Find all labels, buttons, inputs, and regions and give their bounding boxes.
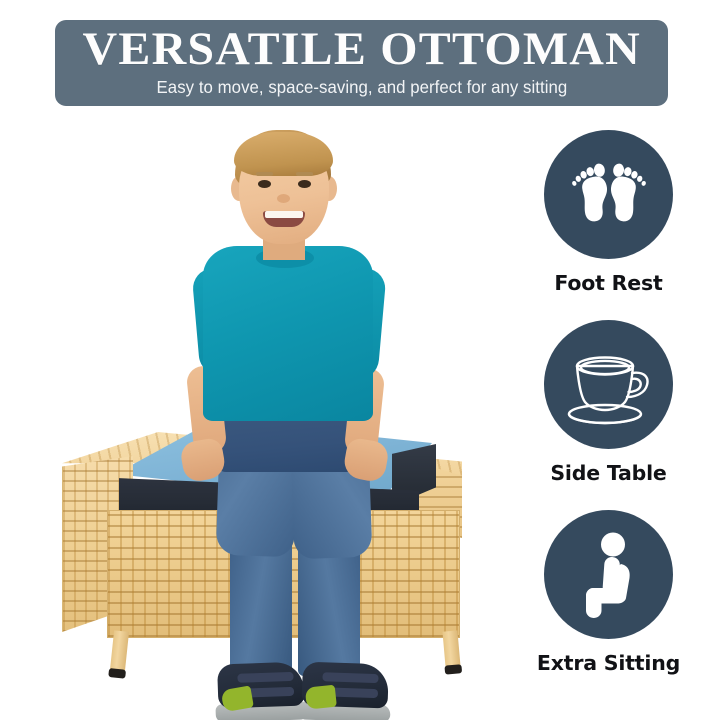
child-right-eyebrow xyxy=(296,172,313,176)
child-left-eyebrow xyxy=(256,172,273,176)
feature-extra-sitting-label: Extra Sitting xyxy=(531,651,686,675)
child-right-eye xyxy=(298,180,311,188)
header-banner: VERSATILE OTTOMAN Easy to move, space-sa… xyxy=(55,20,668,106)
child-mouth xyxy=(263,211,305,227)
feature-extra-sitting-circle xyxy=(544,510,673,639)
feature-extra-sitting: Extra Sitting xyxy=(531,510,686,675)
product-photo xyxy=(40,118,510,693)
feature-side-table-circle xyxy=(544,320,673,449)
teacup-icon xyxy=(563,344,655,426)
feature-foot-rest-circle xyxy=(544,130,673,259)
page-subtitle: Easy to move, space-saving, and perfect … xyxy=(156,76,567,98)
child-tshirt xyxy=(203,246,373,421)
child-left-eye xyxy=(258,180,271,188)
feature-foot-rest: Foot Rest xyxy=(531,130,686,295)
feature-side-table-label: Side Table xyxy=(531,461,686,485)
child-nose xyxy=(277,194,290,203)
child-left-shin xyxy=(230,536,292,676)
seated-person-icon xyxy=(567,532,651,618)
feature-side-table: Side Table xyxy=(531,320,686,485)
child-model xyxy=(40,118,510,693)
page-title: VERSATILE OTTOMAN xyxy=(82,23,640,75)
child-right-shoe xyxy=(301,662,389,720)
feature-foot-rest-label: Foot Rest xyxy=(531,271,686,295)
child-left-shoe xyxy=(217,662,305,720)
child-hair-fringe xyxy=(234,132,333,176)
infographic-page: VERSATILE OTTOMAN Easy to move, space-sa… xyxy=(0,0,720,720)
footprints-icon xyxy=(566,152,652,238)
